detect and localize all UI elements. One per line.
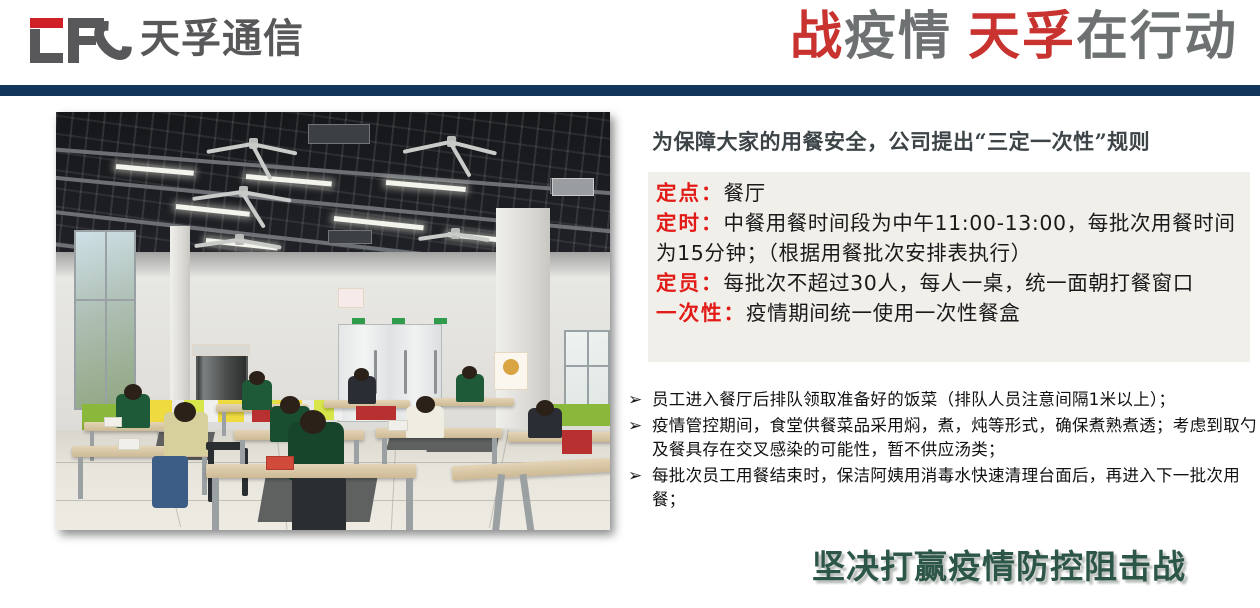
photo-diner-head — [124, 384, 142, 400]
photo-door-handle — [404, 350, 407, 394]
rule-item: 定点：餐厅 — [656, 178, 1242, 208]
rule-key: 定点： — [656, 181, 724, 205]
photo-meal-tray — [266, 456, 294, 470]
photo-ceiling-vent — [308, 124, 370, 144]
photo-exit-sign — [434, 318, 447, 324]
arrow-bullet-icon: ➢ — [624, 388, 652, 412]
title-part-2: 疫情 — [844, 6, 952, 67]
rules-subtitle: 为保障大家的用餐安全，公司提出“三定一次性”规则 — [652, 126, 1252, 156]
photo-diner-head — [536, 400, 554, 416]
photo-pillar — [496, 208, 550, 428]
title-part-3: 天孚 — [968, 6, 1076, 67]
photo-projector — [552, 178, 594, 196]
bottom-slogan: 坚决打赢疫情防控阻击战 — [812, 540, 1186, 588]
company-name-label: 天孚通信 — [140, 19, 304, 59]
photo-window — [74, 230, 136, 410]
photo-diner-head — [249, 371, 265, 385]
photo-meal-box — [104, 417, 122, 427]
photo-diner-head — [280, 396, 300, 414]
list-item-text: 员工进入餐厅后排队领取准备好的饭菜（排队人员注意间隔1米以上）； — [652, 388, 1260, 412]
list-item: ➢ 员工进入餐厅后排队领取准备好的饭菜（排队人员注意间隔1米以上）； — [624, 388, 1260, 412]
photo-table-leg — [222, 412, 226, 436]
rule-key: 定员： — [656, 271, 724, 295]
photo-pillar — [170, 226, 190, 418]
list-item-text: 疫情管控期间，食堂供餐菜品采用焖，煮，炖等形式，确保煮熟煮透；考虑到取勺及餐具存… — [652, 414, 1260, 462]
arrow-bullet-icon: ➢ — [624, 464, 652, 488]
page-header: 天孚通信 战疫情天孚在行动 — [0, 0, 1260, 85]
list-item-text: 每批次员工用餐结束时，保洁阿姨用消毒水快速清理台面后，再进入下一批次用餐； — [652, 464, 1260, 512]
rule-value: 中餐用餐时间段为中午11:00-13:00，每批次用餐时间为15分钟；（根据用餐… — [656, 211, 1235, 265]
photo-diner-head — [462, 366, 477, 379]
cafeteria-photo — [56, 112, 610, 530]
rule-item: 定员：每批次不超过30人，每人一桌，统一面朝打餐窗口 — [656, 268, 1242, 298]
photo-diner-head — [174, 402, 196, 422]
title-part-1: 战 — [790, 6, 844, 67]
logo-letter-c-left-base — [30, 53, 63, 63]
photo-foreground-table — [206, 464, 416, 478]
photo-diner-head — [354, 368, 369, 381]
photo-foreground-diner-head — [300, 410, 326, 434]
photo-table-leg — [406, 478, 413, 530]
photo-table-leg — [78, 457, 83, 499]
arrow-bullet-icon: ➢ — [624, 414, 652, 438]
cfc-logo-icon — [22, 15, 126, 63]
rule-item: 一次性：疫情期间统一使用一次性餐盒 — [656, 298, 1242, 328]
logo-letter-f-mid — [68, 36, 96, 45]
rule-value: 餐厅 — [724, 181, 766, 205]
photo-content — [56, 112, 610, 530]
photo-wall-poster — [494, 352, 528, 390]
photo-sign-strip — [192, 344, 250, 356]
photo-meal-box — [118, 438, 140, 450]
page-title: 战疫情天孚在行动 — [790, 4, 1238, 70]
photo-foreground-chair — [292, 478, 346, 530]
rule-key: 一次性： — [656, 301, 746, 325]
photo-wall-notice — [338, 288, 364, 308]
rule-value: 每批次不超过30人，每人一桌，统一面朝打餐窗口 — [724, 271, 1194, 295]
photo-dark-tile — [386, 436, 434, 450]
photo-diner-legs — [152, 456, 188, 508]
logo-red-bar — [30, 18, 63, 28]
list-item: ➢ 疫情管控期间，食堂供餐菜品采用焖，煮，炖等形式，确保煮熟煮透；考虑到取勺及餐… — [624, 414, 1260, 462]
header-divider-bar — [0, 85, 1260, 96]
bullet-list: ➢ 员工进入餐厅后排队领取准备好的饭菜（排队人员注意间隔1米以上）； ➢ 疫情管… — [624, 388, 1260, 514]
photo-ceiling-vent — [328, 230, 372, 244]
photo-red-bench — [356, 406, 396, 420]
title-part-4: 在行动 — [1076, 6, 1238, 67]
rule-key: 定时： — [656, 211, 724, 235]
rules-panel: 定点：餐厅 定时：中餐用餐时间段为中午11:00-13:00，每批次用餐时间为1… — [648, 172, 1250, 362]
list-item: ➢ 每批次员工用餐结束时，保洁阿姨用消毒水快速清理台面后，再进入下一批次用餐； — [624, 464, 1260, 512]
photo-meal-box — [388, 420, 408, 431]
photo-door-handle — [434, 350, 437, 394]
photo-diner-head — [416, 396, 435, 413]
photo-exit-sign — [392, 318, 405, 324]
rule-value: 疫情期间统一使用一次性餐盒 — [746, 301, 1020, 325]
company-logo: 天孚通信 — [22, 8, 304, 70]
photo-red-chair — [562, 430, 592, 454]
photo-exit-sign — [352, 318, 365, 324]
rule-item: 定时：中餐用餐时间段为中午11:00-13:00，每批次用餐时间为15分钟；（根… — [656, 208, 1242, 268]
photo-table-leg — [212, 478, 219, 530]
